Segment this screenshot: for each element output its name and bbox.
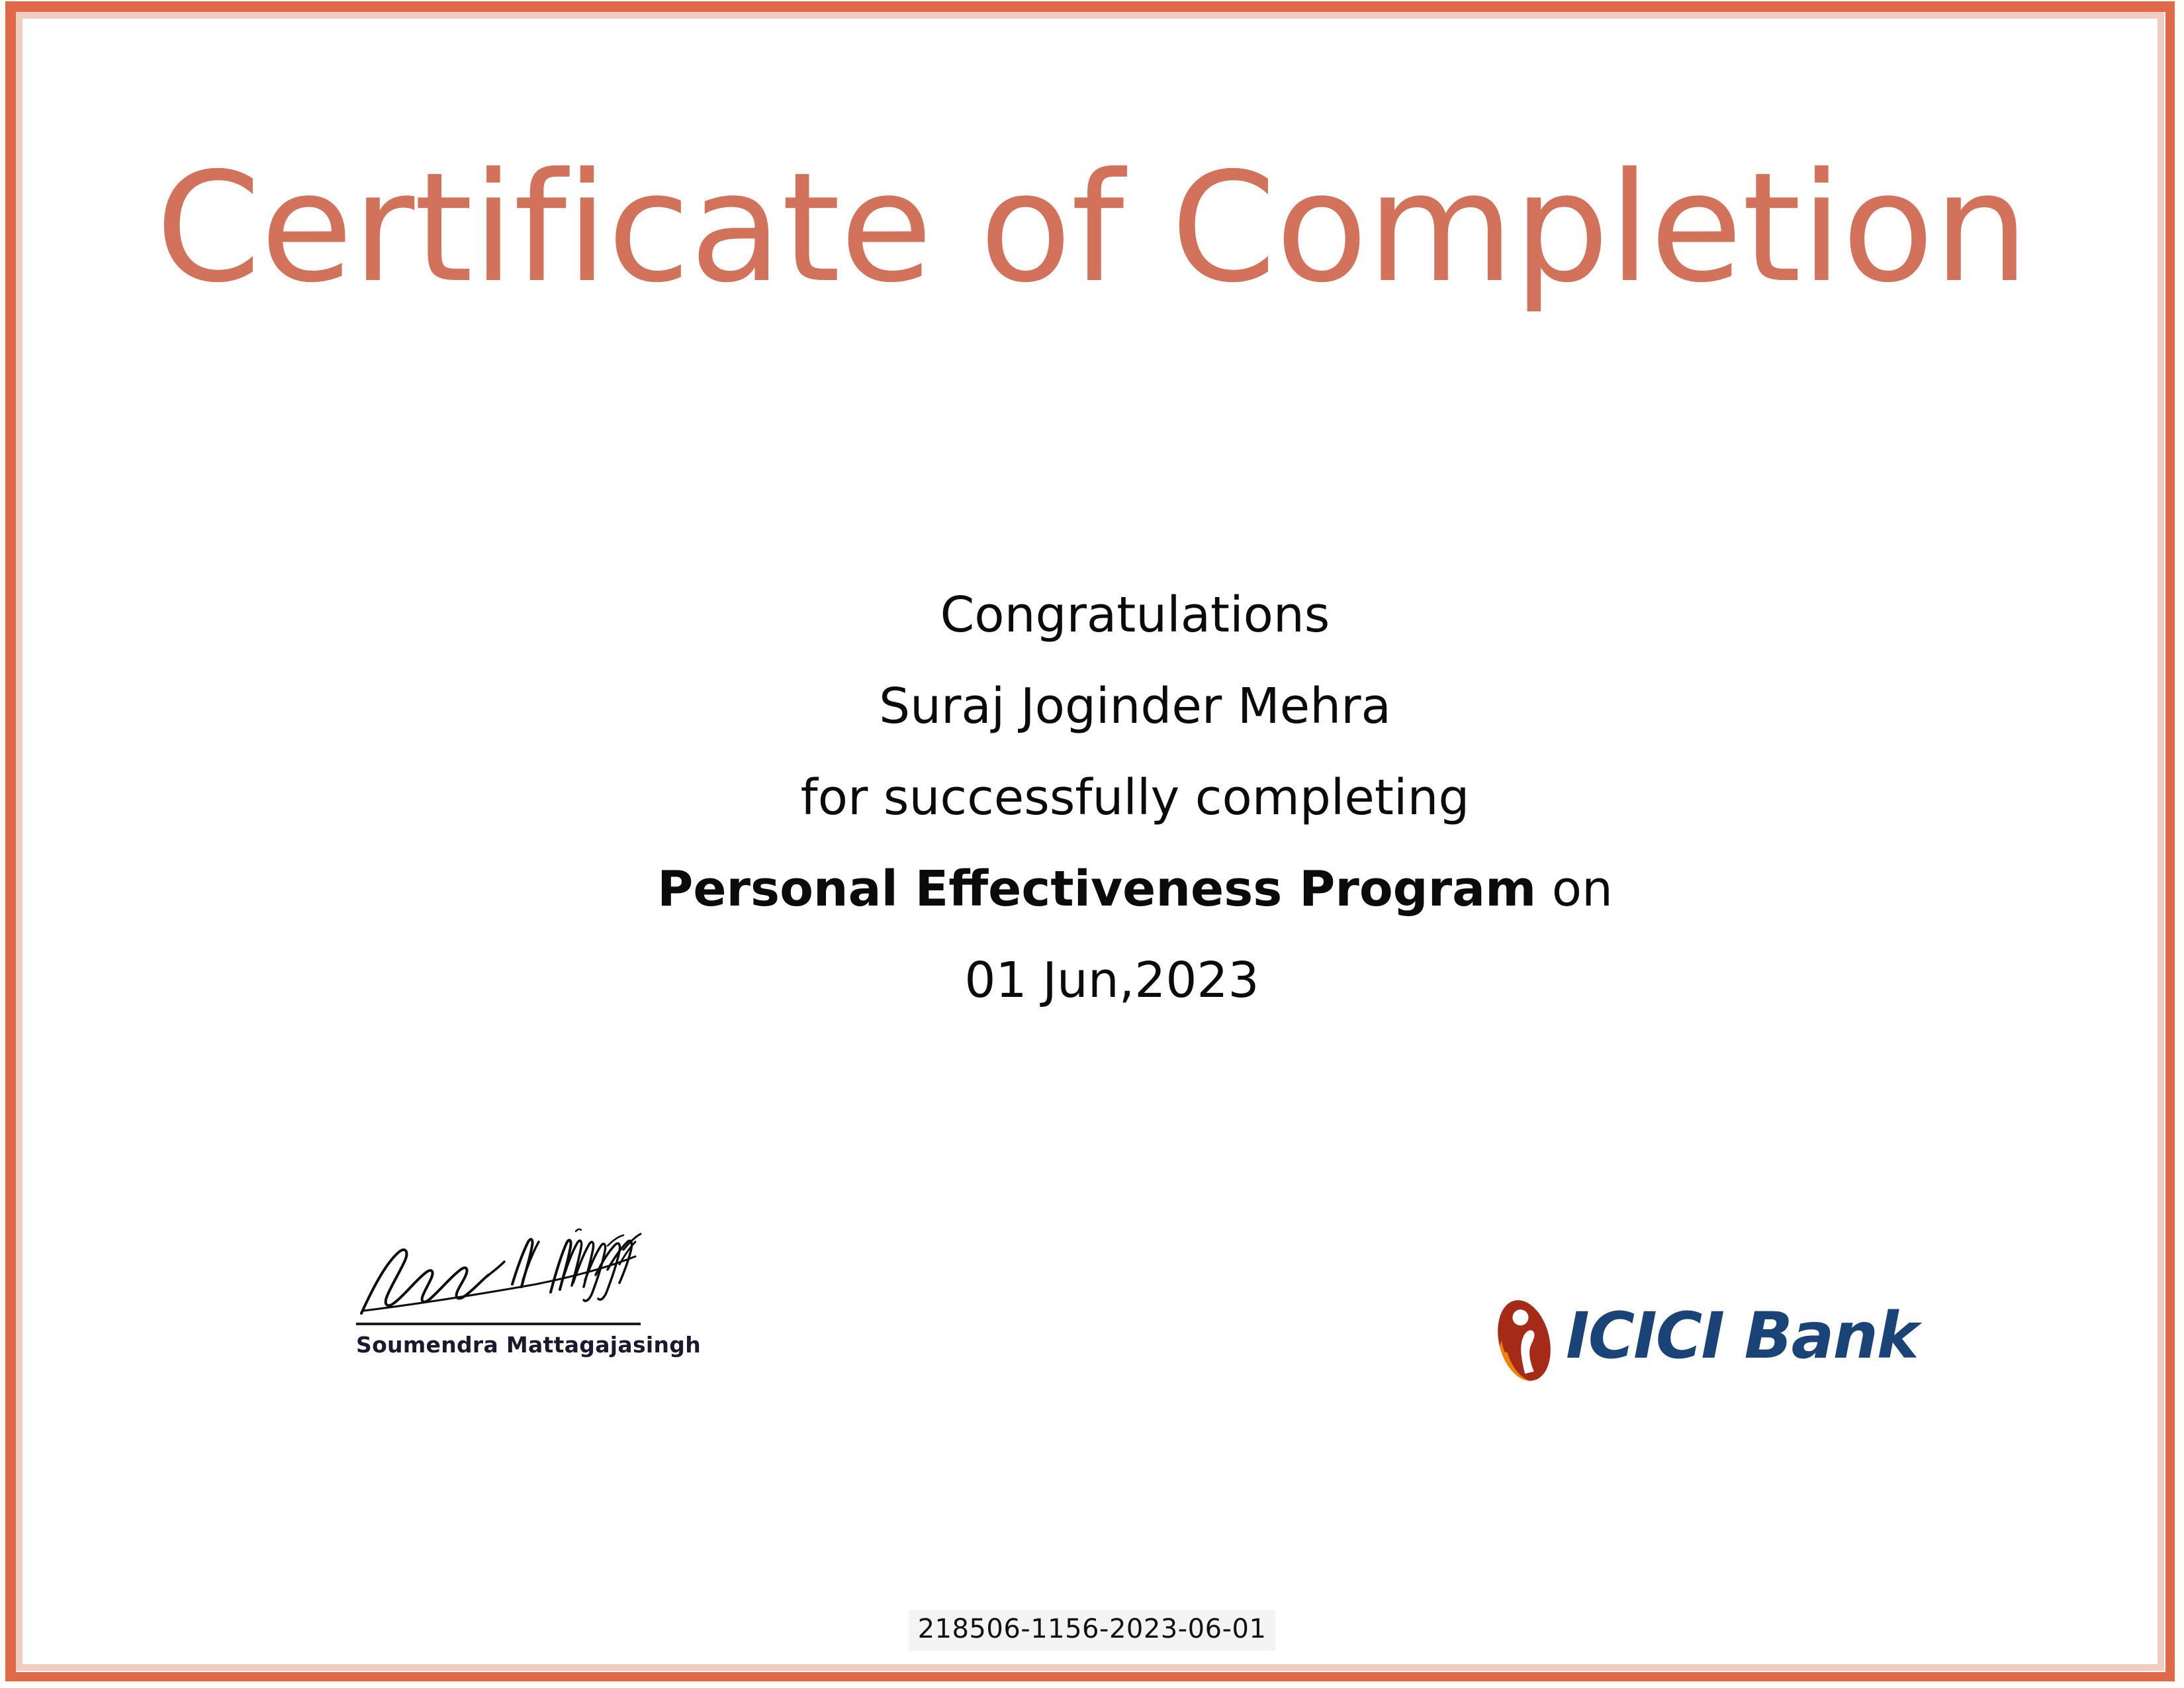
icici-bank-logo: ICICI Bank [1488,1292,1925,1391]
course-line: Personal Effectiveness Program on [0,843,2184,935]
course-suffix: on [1536,861,1613,917]
signature-block: Soumendra Mattagajasingh [344,1218,721,1383]
completion-date-line: 01 Jun,2023 [0,935,2184,1026]
signatory-name: Soumendra Mattagajasingh [356,1332,647,1358]
certificate-body: Congratulations Suraj Joginder Mehra for… [0,569,2184,1026]
certificate-title: Certificate of Completion [0,149,2184,307]
handwritten-signature-icon [357,1223,649,1323]
completion-phrase-line: for successfully completing [0,752,2184,843]
signature-rule [356,1323,641,1325]
salutation-line: Congratulations [0,569,2184,661]
icici-bank-wordmark: ICICI Bank [1566,1304,1918,1368]
certificate-page: Certificate of Completion Congratulation… [0,0,2184,1688]
course-name: Personal Effectiveness Program [657,861,1536,917]
icici-i-mark-icon [1488,1295,1561,1386]
recipient-name-line: Suraj Joginder Mehra [0,661,2184,752]
certificate-reference: 218506-1156-2023-06-01 [0,1610,2184,1651]
certificate-reference-number: 218506-1156-2023-06-01 [909,1610,1276,1651]
